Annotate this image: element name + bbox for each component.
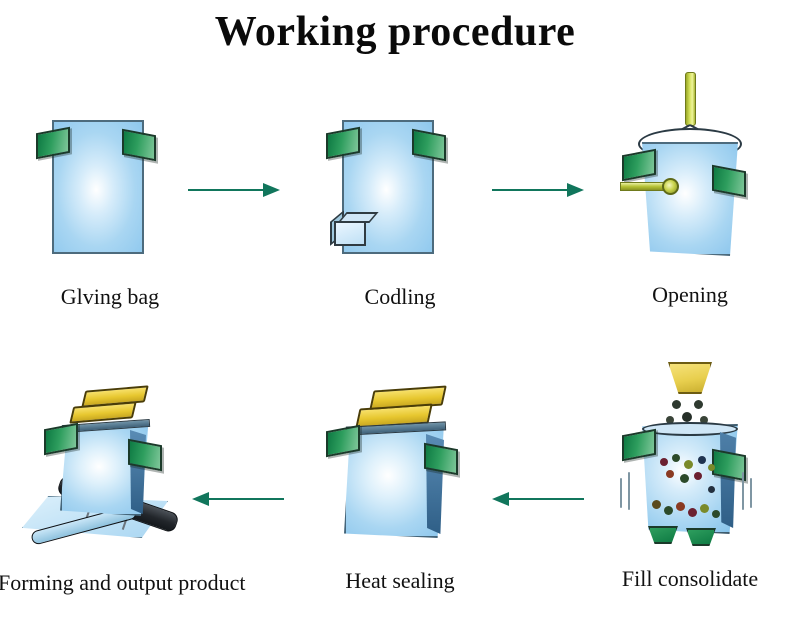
arrow-shaft <box>208 498 284 500</box>
glving-bag-art <box>10 108 210 268</box>
step-glving-bag[interactable]: Glving bag <box>10 108 210 310</box>
granule-icon <box>664 506 673 515</box>
granule-icon <box>694 400 703 409</box>
vibration-line-icon <box>620 478 622 508</box>
granule-icon <box>708 464 715 471</box>
step-label-forming-output: Forming and output product <box>0 570 198 596</box>
granule-icon <box>666 470 674 478</box>
granule-icon <box>698 456 706 464</box>
step-label-codling: Codling <box>300 284 500 310</box>
granule-icon <box>712 510 720 518</box>
vibration-line-icon <box>628 472 630 510</box>
step-heat-sealing[interactable]: Heat sealing <box>300 380 500 594</box>
heat-sealing-art <box>300 380 500 556</box>
granule-icon <box>682 412 692 422</box>
page-title: Working procedure <box>0 8 790 56</box>
opening-art <box>590 66 790 268</box>
step-label-opening: Opening <box>590 282 790 308</box>
granule-icon <box>652 500 661 509</box>
granule-icon <box>688 508 697 517</box>
arrow-shaft <box>508 498 584 500</box>
shaker-foot-icon <box>648 526 678 544</box>
arrow-glving-to-codling <box>188 178 280 202</box>
lifting-rod-icon <box>685 72 696 126</box>
fill-consolidate-art <box>590 360 790 556</box>
granule-icon <box>684 460 693 469</box>
code-box-face-icon <box>334 221 366 246</box>
granule-icon <box>694 472 702 480</box>
arrow-shaft <box>188 189 264 191</box>
granule-icon <box>700 504 709 513</box>
codling-art <box>300 108 500 268</box>
arrow-codling-to-opening <box>492 178 584 202</box>
step-fill-consolidate[interactable]: Fill consolidate <box>590 360 790 592</box>
step-label-heat-sealing: Heat sealing <box>300 568 500 594</box>
granule-icon <box>676 502 685 511</box>
granule-icon <box>660 458 668 466</box>
vibration-line-icon <box>742 472 744 510</box>
arrow-fill-to-heat-sealing <box>492 487 584 511</box>
arrow-head-icon <box>567 183 584 197</box>
granule-icon <box>680 474 689 483</box>
vibration-line-icon <box>750 478 752 508</box>
suction-nozzle-disc-icon <box>662 178 679 195</box>
suction-nozzle-arm-icon <box>620 182 666 191</box>
hopper-icon <box>668 362 712 394</box>
granule-icon <box>672 400 681 409</box>
step-codling[interactable]: Codling <box>300 108 500 310</box>
step-opening[interactable]: Opening <box>590 66 790 308</box>
step-label-fill-consolidate: Fill consolidate <box>590 566 790 592</box>
granule-icon <box>672 454 680 462</box>
arrow-heat-sealing-to-forming <box>192 487 284 511</box>
granule-icon <box>708 486 715 493</box>
step-forming-output[interactable]: Forming and output product <box>0 378 198 596</box>
bag-fold-icon <box>720 432 736 528</box>
forming-output-art <box>0 378 198 560</box>
shaker-foot-icon <box>686 528 716 546</box>
arrow-shaft <box>492 189 568 191</box>
step-label-glving-bag: Glving bag <box>10 284 210 310</box>
arrow-head-icon <box>263 183 280 197</box>
